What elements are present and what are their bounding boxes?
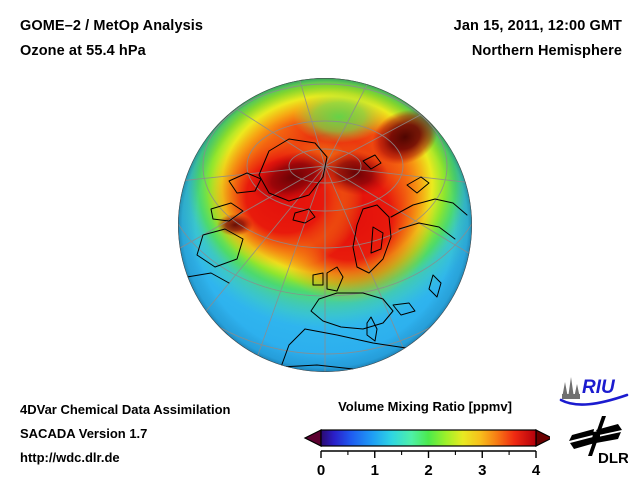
- colorbar-over-cap: [536, 430, 550, 446]
- colorbar-tick-2: 2: [424, 462, 432, 479]
- globe-map: [177, 77, 473, 373]
- colorbar-tick-0: 0: [317, 462, 325, 479]
- footer-line-method: 4DVar Chemical Data Assimilation: [20, 398, 231, 422]
- ozone-analysis-figure: GOME–2 / MetOp Analysis Ozone at 55.4 hP…: [0, 0, 640, 480]
- dlr-logo: DLR: [566, 414, 628, 471]
- colorbar-tick-1: 1: [371, 462, 379, 479]
- header-right: Jan 15, 2011, 12:00 GMT Northern Hemisph…: [292, 14, 622, 64]
- footer-line-url[interactable]: http://wdc.dlr.de: [20, 446, 231, 470]
- colorbar: Volume Mixing Ratio [ppmv]: [300, 399, 550, 480]
- colorbar-under-cap: [305, 430, 321, 446]
- timestamp-label: Jan 15, 2011, 12:00 GMT: [292, 14, 622, 39]
- colorbar-title: Volume Mixing Ratio [ppmv]: [300, 399, 550, 414]
- colorbar-major-ticks: [321, 451, 536, 458]
- colorbar-tick-3: 3: [478, 462, 486, 479]
- colorbar-gradient: [321, 430, 536, 446]
- riu-wordmark: RIU: [582, 377, 616, 398]
- riu-logo: RIU: [558, 374, 630, 413]
- dlr-wordmark: DLR: [598, 450, 628, 466]
- riu-mark-icon: [562, 377, 580, 399]
- footer-credits: 4DVar Chemical Data Assimilation SACADA …: [20, 398, 231, 470]
- globe-field: [177, 77, 473, 373]
- footer-line-version: SACADA Version 1.7: [20, 422, 231, 446]
- colorbar-tick-labels: 0 1 2 3 4: [317, 462, 541, 479]
- hemisphere-label: Northern Hemisphere: [292, 39, 622, 64]
- colorbar-tick-4: 4: [532, 462, 541, 479]
